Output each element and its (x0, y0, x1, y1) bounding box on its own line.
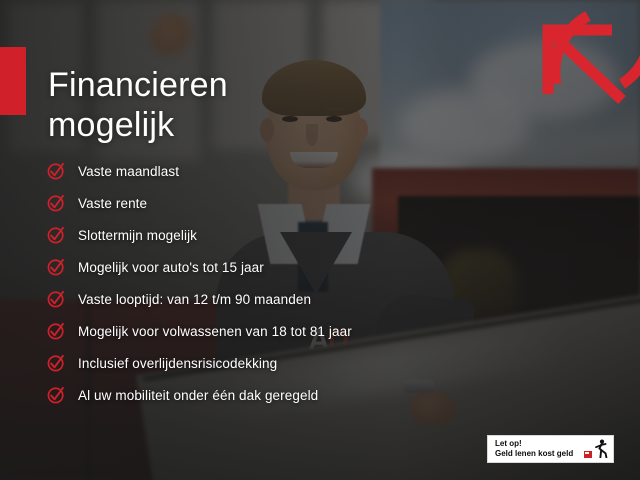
list-item: Vaste maandlast (46, 155, 606, 187)
warning-text: Let op! Geld lenen kost geld (495, 439, 584, 459)
list-item: Vaste rente (46, 187, 606, 219)
financing-promo-banner: AD Financieren mogelijk Vaste maandlast (0, 0, 640, 480)
list-item-label: Vaste rente (78, 196, 147, 211)
list-item: Slottermijn mogelijk (46, 219, 606, 251)
warning-line-2: Geld lenen kost geld (495, 449, 584, 459)
feature-list: Vaste maandlast Vaste rente Slottermijn … (46, 155, 606, 411)
list-item-label: Vaste looptijd: van 12 t/m 90 maanden (78, 292, 311, 307)
afm-warning-badge: Let op! Geld lenen kost geld (487, 435, 614, 463)
list-item: Inclusief overlijdensrisicodekking (46, 347, 606, 379)
check-circle-icon (46, 225, 66, 245)
red-money-chip-icon (584, 451, 592, 458)
check-circle-icon (46, 321, 66, 341)
list-item: Al uw mobiliteit onder één dak geregeld (46, 379, 606, 411)
check-circle-icon (46, 257, 66, 277)
title-line-2: mogelijk (48, 105, 428, 145)
list-item-label: Al uw mobiliteit onder één dak geregeld (78, 388, 318, 403)
red-square-accent (0, 47, 26, 115)
list-item-label: Vaste maandlast (78, 164, 179, 179)
check-circle-icon (46, 161, 66, 181)
list-item-label: Slottermijn mogelijk (78, 228, 197, 243)
title-line-1: Financieren (48, 65, 428, 105)
list-item: Mogelijk voor volwassenen van 18 tot 81 … (46, 315, 606, 347)
list-item-label: Inclusief overlijdensrisicodekking (78, 356, 277, 371)
check-circle-icon (46, 353, 66, 373)
list-item: Vaste looptijd: van 12 t/m 90 maanden (46, 283, 606, 315)
check-circle-icon (46, 385, 66, 405)
list-item-label: Mogelijk voor volwassenen van 18 tot 81 … (78, 324, 352, 339)
list-item: Mogelijk voor auto's tot 15 jaar (46, 251, 606, 283)
warning-line-1: Let op! (495, 439, 584, 449)
check-circle-icon (46, 289, 66, 309)
list-item-label: Mogelijk voor auto's tot 15 jaar (78, 260, 264, 275)
page-title: Financieren mogelijk (48, 65, 428, 145)
check-circle-icon (46, 193, 66, 213)
warning-icons (584, 439, 608, 460)
afm-running-man-icon (593, 439, 608, 458)
